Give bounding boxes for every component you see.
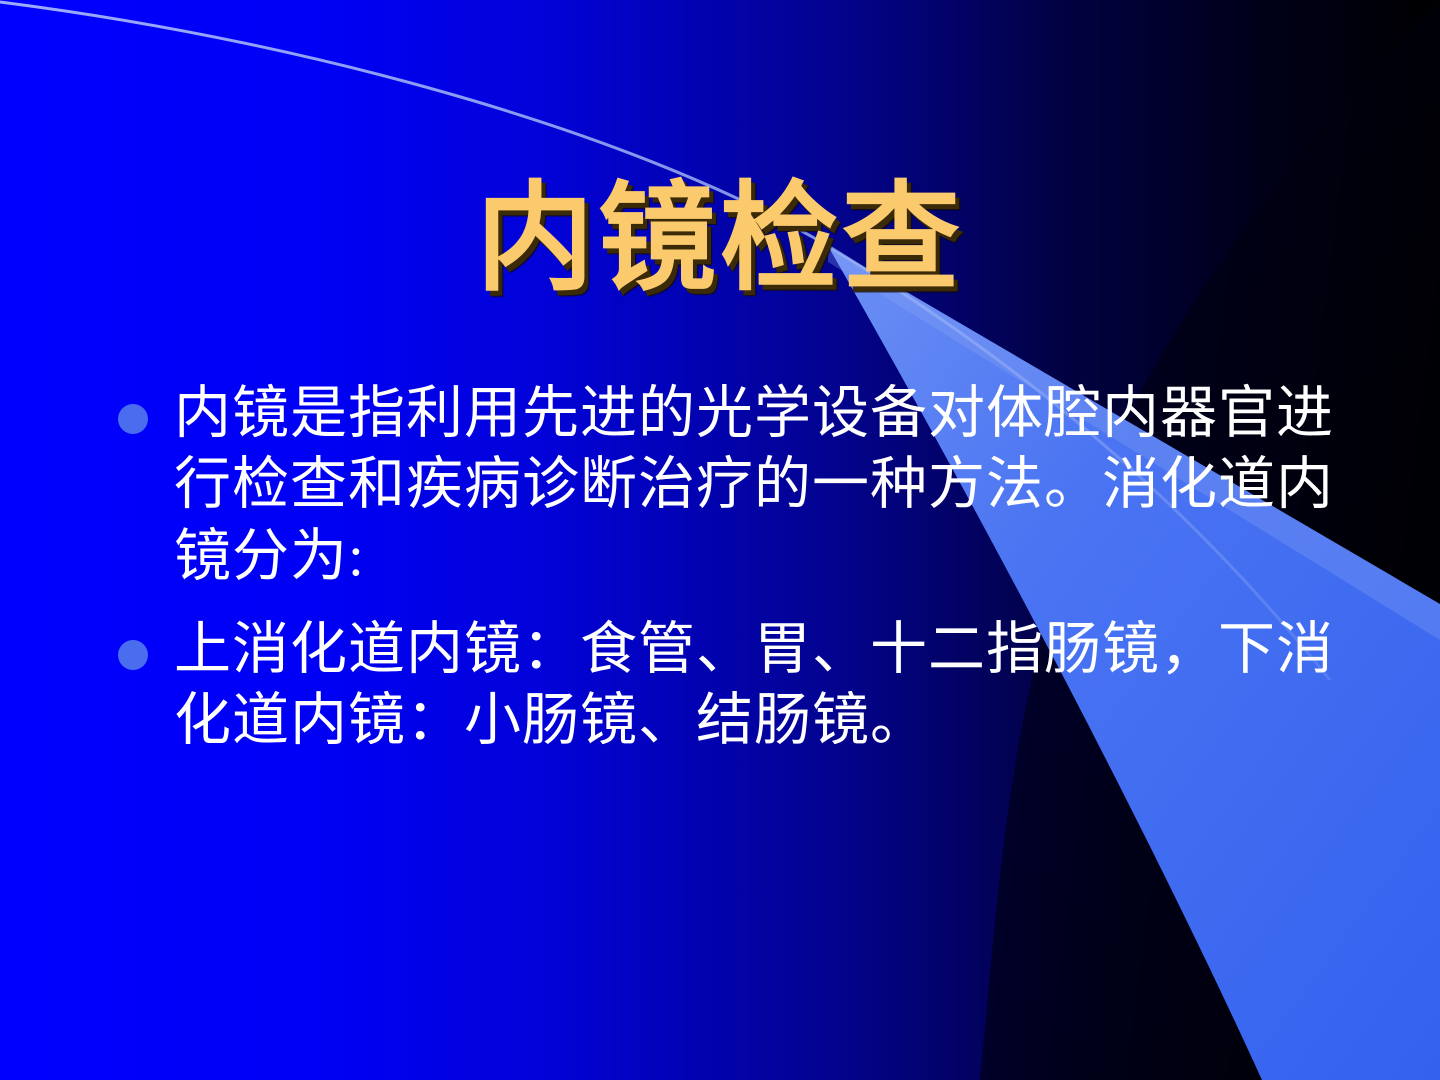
list-item: 上消化道内镜：食管、胃、十二指肠镜，下消化道内镜：小肠镜、结肠镜。 xyxy=(118,614,1358,757)
list-item: 内镜是指利用先进的光学设备对体腔内器官进行检查和疾病诊断治疗的一种方法。消化道内… xyxy=(118,378,1358,592)
bullet-text: 内镜是指利用先进的光学设备对体腔内器官进行检查和疾病诊断治疗的一种方法。消化道内… xyxy=(174,378,1358,592)
disc-bullet-icon xyxy=(118,404,148,434)
disc-bullet-icon xyxy=(118,640,148,670)
bullet-text: 上消化道内镜：食管、胃、十二指肠镜，下消化道内镜：小肠镜、结肠镜。 xyxy=(174,614,1358,757)
slide-canvas: 内镜检查 内镜是指利用先进的光学设备对体腔内器官进行检查和疾病诊断治疗的一种方法… xyxy=(0,0,1440,1080)
slide-body-container: 内镜是指利用先进的光学设备对体腔内器官进行检查和疾病诊断治疗的一种方法。消化道内… xyxy=(118,378,1358,778)
